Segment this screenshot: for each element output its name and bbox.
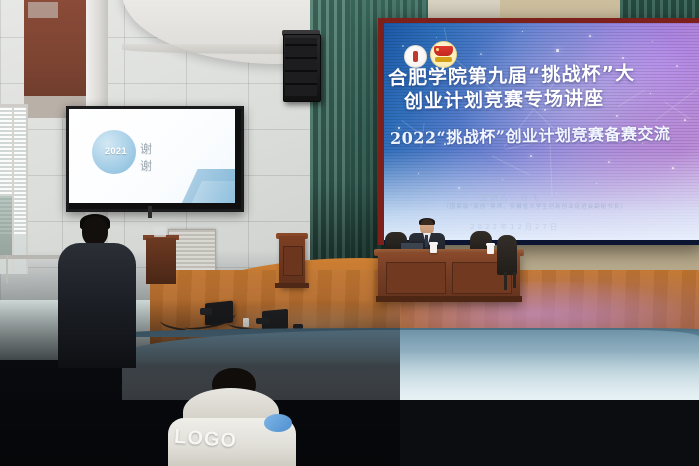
led-title-line-2: 创业计划竞赛专场讲座 — [404, 81, 699, 114]
window-header — [0, 104, 26, 107]
standing-person-body — [58, 243, 136, 368]
jacket-blue-patch — [264, 414, 292, 432]
slide-thank-you-text: 谢 谢 — [140, 140, 232, 174]
projector-stand — [148, 206, 152, 218]
upper-window-opening — [28, 2, 58, 18]
standing-person-head — [82, 216, 108, 246]
auditorium-photo: 2021 谢 谢 合肥学院第九届“挑战杯”大 创业计划竞赛专场讲座 2022“挑… — [0, 0, 699, 466]
slide-wave-shape-2 — [181, 181, 235, 203]
led-credential-line: （国家级“双创”导师、安徽省大学生创新创业促进会副秘书长） — [395, 202, 675, 210]
slide-year-badge: 2021 — [100, 146, 132, 156]
speaker-grille — [285, 38, 317, 96]
